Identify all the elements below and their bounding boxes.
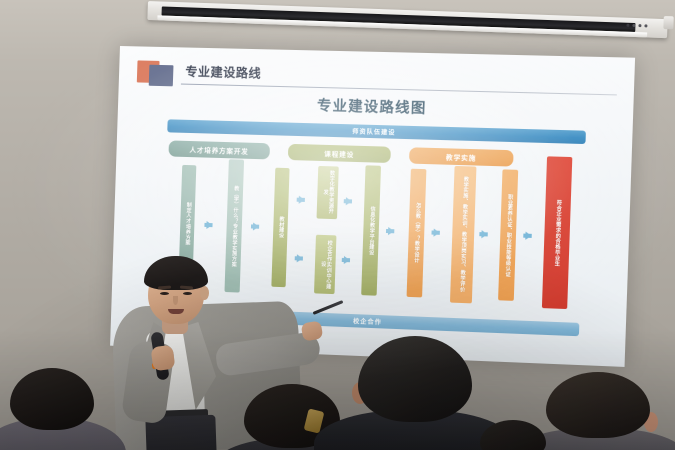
arrow-icon-8 [433,229,440,237]
roadmap-diagram: 师资队伍建设 人才培养方案开发 课程建设 教学实施 制定人才培养方案 教（学）什… [161,119,586,336]
banner-teacher-team: 师资队伍建设 [167,119,586,144]
box-training-center: 校企合作实训中心建设 [314,235,336,294]
audience-shoulders [314,410,514,450]
arrow-icon-10 [525,232,532,240]
arrow-icon-9 [481,230,488,238]
audience-head [10,368,94,430]
audience-member-4 [520,372,670,450]
box-qualified-graduates: 符合企业需求的合格毕业生 [542,156,572,309]
presenter-mic-arm [121,339,176,424]
audience-shoulders [510,428,675,450]
box-info-platform: 信息化教学平台建设 [361,165,381,295]
audience-shoulders [214,438,374,450]
arrow-icon-4 [297,254,303,262]
section-header-curriculum: 课程建设 [288,144,391,163]
audience-ear [352,382,368,404]
audience-ear [644,412,658,432]
meeting-room-background: 专业建设路线 专业建设路线图 师资队伍建设 人才培养方案开发 课程建设 教学实施… [0,0,675,450]
audience-head [546,372,650,438]
blue-square-icon [149,65,174,87]
hair-clip-icon [304,408,325,433]
box-teach-what-plan: 教（学）什么？专业教学实施方案 [224,159,244,292]
audience-member-5 [470,420,560,450]
projector-screen-roller [147,1,668,49]
arrow-icon-7 [388,227,394,235]
audience-member-2 [222,384,362,450]
section-header-talent-training: 人才培养方案开发 [168,140,270,159]
arrow-icon-5 [346,197,352,205]
roller-bracket [663,16,673,29]
projected-slide: 专业建设路线 专业建设路线图 师资队伍建设 人才培养方案开发 课程建设 教学实施… [110,46,635,367]
banner-school-enterprise: 校企合作 [161,307,579,337]
microphone-band [152,361,169,369]
box-how-to-teach-design: 怎么教（学）？教学设计 [407,169,427,298]
box-teaching-practice: 教学实施、教学实训、教学顶岗实习、教学评价 [450,166,476,303]
box-textbook-construction: 教材建设 [271,168,289,288]
presenter-trousers [145,415,216,450]
audience-member-1 [0,368,112,450]
slide-header-label: 专业建设路线 [185,63,261,82]
box-make-talent-plan: 制定人才培养方案 [178,165,196,284]
arrow-icon-6 [344,256,350,264]
arrow-icon-2 [253,222,259,230]
arrow-icon-3 [299,196,305,204]
box-digital-resources: 数字化教学资源开发 [317,166,339,219]
audience-shoulders [0,418,126,450]
audience-head [480,420,546,450]
audience-head [244,384,340,448]
box-certifications: 职业素养认证、职业技能等级认证 [498,169,518,300]
presenter-mic-hand [150,345,175,372]
presenter-belt [152,409,208,419]
section-header-teaching: 教学实施 [409,147,514,166]
arrow-icon-1 [206,221,212,229]
